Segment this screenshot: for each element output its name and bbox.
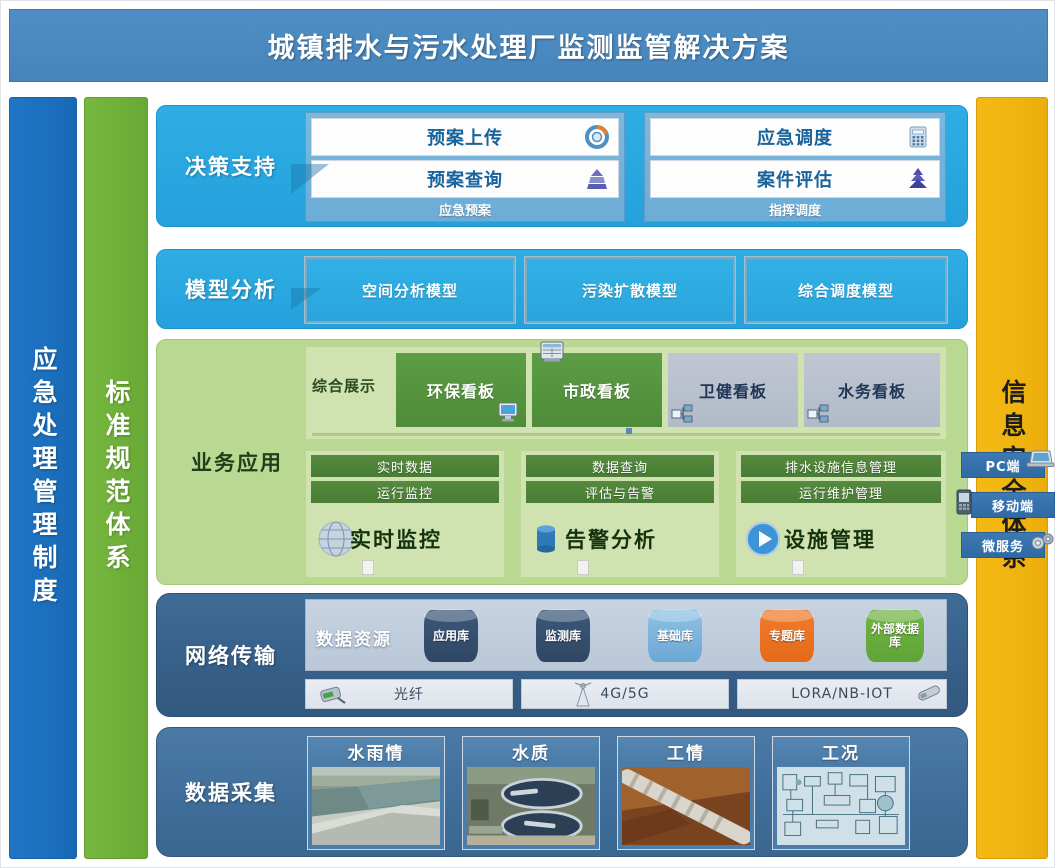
data-resource-panel: 数据资源 应用库 监测库 基础库 专题库 外部数据库: [305, 599, 947, 671]
app-column-facility: 排水设施信息管理 运行维护管理 设施管理: [735, 450, 947, 578]
device-button-mobile[interactable]: 移动端: [971, 492, 1055, 518]
page-title: 城镇排水与污水处理厂监测监管解决方案: [268, 26, 790, 65]
device-button-microservice-label: 微服务: [982, 536, 1024, 555]
network-link-cellular[interactable]: 4G/5G: [521, 679, 729, 709]
document-badge-icon: [362, 560, 374, 575]
play-circle-icon: [744, 520, 782, 558]
database-thematic[interactable]: 专题库: [760, 610, 814, 662]
model-box-pollution-diffusion[interactable]: 污染扩散模型: [525, 257, 735, 323]
collect-card-project-status[interactable]: 工情: [617, 736, 755, 850]
sensor-node-icon: [914, 682, 944, 704]
device-endpoint-group: PC端 移动端: [957, 450, 1055, 578]
band-business-application-label: 业务应用: [167, 340, 307, 584]
device-button-mobile-label: 移动端: [992, 496, 1034, 515]
board-environmental[interactable]: 环保看板: [396, 353, 526, 427]
collect-card-hydrology[interactable]: 水雨情: [307, 736, 445, 850]
monitor-icon: [496, 401, 520, 423]
collect-card-hydrology-title: 水雨情: [308, 737, 444, 765]
boards-panel: 综合展示 环保看板 市政看板: [305, 346, 947, 440]
buried-pipeline-photo: [622, 767, 750, 845]
river-channel-photo: [312, 767, 440, 845]
app-main-facility-management[interactable]: 设施管理: [736, 507, 946, 571]
band-network-transmission: 网络传输 数据资源 应用库 监测库 基础库 专题库 外部数据库 光纤: [156, 593, 968, 717]
fiber-cable-icon: [316, 684, 346, 706]
collect-card-water-quality[interactable]: 水质: [462, 736, 600, 850]
pillar-standards-system-label: 标准规范体系: [98, 379, 134, 577]
device-button-pc-label: PC端: [985, 456, 1020, 475]
decision-item-plan-upload[interactable]: 预案上传: [311, 118, 619, 156]
band-model-analysis-label: 模型分析: [167, 250, 295, 328]
board-municipal[interactable]: 市政看板: [532, 353, 662, 427]
model-box-spatial-analysis[interactable]: 空间分析模型: [305, 257, 515, 323]
pillar-emergency-management: 应急处理管理制度: [9, 97, 77, 859]
document-badge-icon: [792, 560, 804, 575]
band-decision-support: 决策支持 预案上传 预案查询: [156, 105, 968, 227]
board-water-affairs-label: 水务看板: [838, 378, 906, 402]
app-main-realtime-monitoring-label: 实时监控: [350, 524, 442, 554]
board-environmental-label: 环保看板: [427, 378, 495, 402]
boards-caption: 综合展示: [312, 375, 390, 396]
decision-group-emergency-plan: 预案上传 预案查询: [305, 112, 625, 222]
decision-arrow-notch: [291, 164, 329, 194]
board-health[interactable]: 卫健看板: [668, 353, 798, 427]
decision-item-case-evaluation-label: 案件评估: [757, 166, 833, 192]
band-network-transmission-label: 网络传输: [167, 594, 295, 716]
scada-schematic-photo: [777, 767, 905, 845]
org-chart-icon: [670, 403, 694, 425]
data-resource-caption: 数据资源: [316, 625, 392, 650]
database-application[interactable]: 应用库: [424, 610, 478, 662]
app-main-alarm-analysis[interactable]: 告警分析: [521, 507, 719, 571]
decision-item-emergency-dispatch[interactable]: 应急调度: [650, 118, 940, 156]
collect-card-project-status-title: 工情: [618, 737, 754, 765]
app-pill-evaluation-alarm[interactable]: 评估与告警: [526, 481, 714, 503]
database-foundation[interactable]: 基础库: [648, 610, 702, 662]
network-link-fiber[interactable]: 光纤: [305, 679, 513, 709]
board-municipal-label: 市政看板: [563, 378, 631, 402]
decision-group-emergency-plan-title: 应急预案: [306, 200, 624, 219]
document-badge-icon: [577, 560, 589, 575]
collect-card-operating-condition-title: 工况: [773, 737, 909, 765]
mobile-phone-icon: [953, 488, 975, 516]
decision-item-plan-upload-label: 预案上传: [427, 124, 503, 150]
app-main-realtime-monitoring[interactable]: 实时监控: [306, 507, 504, 571]
decision-item-case-evaluation[interactable]: 案件评估: [650, 160, 940, 198]
tree-diagram-icon: [905, 166, 931, 192]
app-pill-realtime-data[interactable]: 实时数据: [311, 455, 499, 477]
band-business-application: 业务应用 综合展示 环保看板 市政看板: [156, 339, 968, 585]
network-link-lora[interactable]: LORA/NB-IOT: [737, 679, 947, 709]
app-pill-operation-maintenance[interactable]: 运行维护管理: [741, 481, 941, 503]
org-chart-icon: [806, 403, 830, 425]
boards-divider: [312, 433, 940, 436]
board-water-affairs[interactable]: 水务看板: [804, 353, 940, 427]
calculator-icon: [905, 124, 931, 150]
boards-divider-dot: [626, 428, 632, 434]
gears-icon: [1029, 530, 1055, 554]
model-box-integrated-dispatch[interactable]: 综合调度模型: [745, 257, 947, 323]
band-data-collection-label: 数据采集: [167, 728, 295, 856]
pyramid-chart-icon: [584, 166, 610, 192]
model-arrow-notch: [291, 288, 321, 310]
app-column-realtime: 实时数据 运行监控 实时监控: [305, 450, 505, 578]
app-pill-operation-monitoring[interactable]: 运行监控: [311, 481, 499, 503]
sedimentation-tanks-photo: [467, 767, 595, 845]
pillar-emergency-management-label: 应急处理管理制度: [25, 346, 61, 610]
database-external[interactable]: 外部数据库: [866, 610, 924, 662]
architecture-diagram: 城镇排水与污水处理厂监测监管解决方案 应急处理管理制度 标准规范体系 信息安全体…: [0, 0, 1055, 868]
laptop-icon: [1025, 448, 1055, 470]
page-title-bar: 城镇排水与污水处理厂监测监管解决方案: [9, 9, 1048, 82]
app-pill-drainage-facility-info[interactable]: 排水设施信息管理: [741, 455, 941, 477]
antenna-icon: [568, 680, 598, 710]
network-link-fiber-label: 光纤: [394, 684, 424, 704]
decision-item-plan-query[interactable]: 预案查询: [311, 160, 619, 198]
decision-item-emergency-dispatch-label: 应急调度: [757, 124, 833, 150]
network-link-cellular-label: 4G/5G: [600, 686, 649, 702]
board-health-label: 卫健看板: [699, 378, 767, 402]
collect-card-water-quality-title: 水质: [463, 737, 599, 765]
band-model-analysis: 模型分析 空间分析模型 污染扩散模型 综合调度模型: [156, 249, 968, 329]
window-icon: [538, 339, 566, 365]
refresh-cycle-icon: [584, 124, 610, 150]
band-decision-support-label: 决策支持: [167, 106, 295, 226]
app-column-alarm: 数据查询 评估与告警 告警分析: [520, 450, 720, 578]
decision-group-command-dispatch-title: 指挥调度: [645, 200, 945, 219]
database-monitoring[interactable]: 监测库: [536, 610, 590, 662]
pillar-standards-system: 标准规范体系: [84, 97, 148, 859]
band-data-collection: 数据采集 水雨情 水质: [156, 727, 968, 857]
app-main-facility-management-label: 设施管理: [784, 524, 876, 554]
decision-group-command-dispatch: 应急调度 案件评估: [644, 112, 946, 222]
collect-card-operating-condition[interactable]: 工况: [772, 736, 910, 850]
decision-item-plan-query-label: 预案查询: [427, 166, 503, 192]
network-link-lora-label: LORA/NB-IOT: [791, 686, 893, 702]
database-icon: [529, 517, 563, 561]
app-main-alarm-analysis-label: 告警分析: [565, 524, 657, 554]
app-pill-data-query[interactable]: 数据查询: [526, 455, 714, 477]
